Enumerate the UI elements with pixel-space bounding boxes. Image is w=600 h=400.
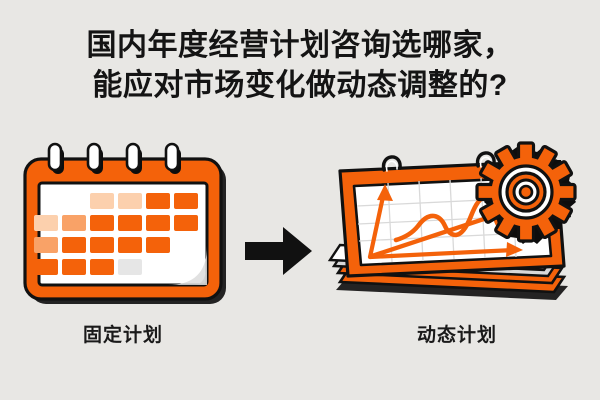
fixed-calendar-icon (8, 140, 238, 315)
dynamic-calendar-chart-icon (318, 140, 596, 320)
right-panel-caption: 动态计划 (318, 320, 596, 347)
transition-arrow (243, 222, 315, 280)
poster-canvas: 国内年度经营计划咨询选哪家， 能应对市场变化做动态调整的? (0, 0, 600, 400)
headline-line-1: 国内年度经营计划咨询选哪家， (0, 26, 600, 66)
illustration-stage: 固定计划 (0, 140, 600, 370)
left-panel-caption: 固定计划 (8, 320, 238, 347)
page-title: 国内年度经营计划咨询选哪家， 能应对市场变化做动态调整的? (0, 26, 600, 105)
headline-line-2: 能应对市场变化做动态调整的? (0, 66, 600, 106)
right-panel: 动态计划 (318, 140, 596, 320)
right-arrow-icon (243, 222, 315, 280)
left-panel: 固定计划 (8, 140, 238, 315)
